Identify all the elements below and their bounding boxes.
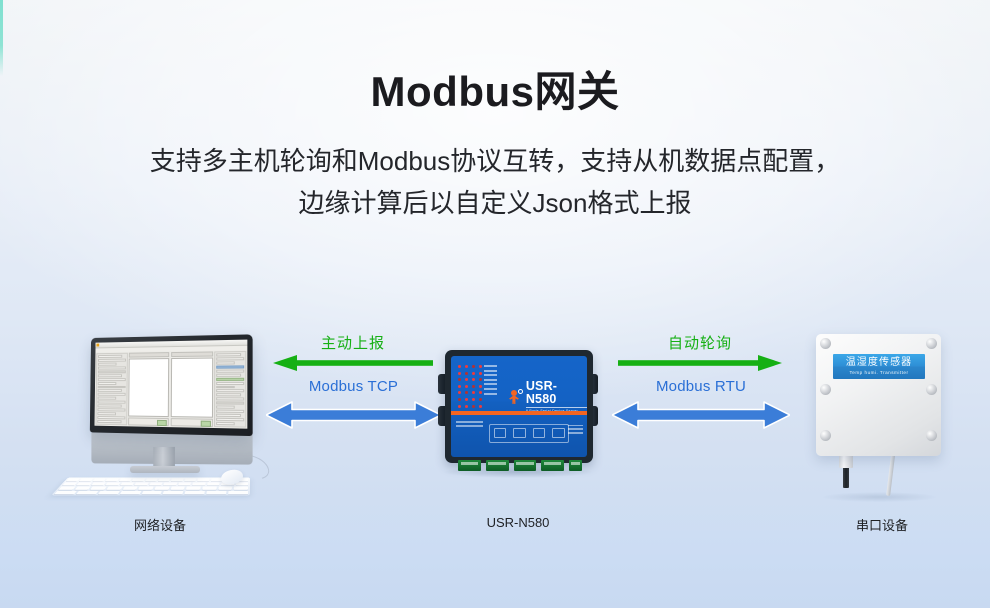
app-body <box>94 350 247 429</box>
screw-icon <box>820 338 831 349</box>
right-green-flow-label: 自动轮询 <box>618 332 782 353</box>
screw-icon <box>926 384 937 395</box>
left-blue-flow-label: Modbus TCP <box>266 378 441 395</box>
terminal-block <box>486 460 509 471</box>
caption-gateway-model: USR-N580 <box>448 515 588 530</box>
device-front-panel: USR-N580 8 Ports Serial Device Server <box>451 356 587 457</box>
monitor-screen <box>94 340 247 429</box>
sensor-enclosure: 温湿度传感器 Temp humi. Transmitter <box>816 334 941 456</box>
screw-icon <box>820 430 831 441</box>
screw-icon <box>820 384 831 395</box>
device-lower-panel <box>451 415 587 457</box>
right-green-arrow-icon <box>618 354 782 372</box>
device-led-array <box>458 365 483 409</box>
keyboard-row <box>58 487 248 490</box>
page-subtitle: 支持多主机轮询和Modbus协议互转，支持从机数据点配置， 边缘计算后以自定义J… <box>0 140 990 224</box>
caption-network-device: 网络设备 <box>90 515 230 534</box>
left-green-flow: 主动上报 <box>273 332 433 372</box>
device-led-labels <box>484 365 497 395</box>
screw-icon <box>926 338 937 349</box>
sensor-name-cn: 温湿度传感器 <box>846 357 913 369</box>
keyboard-row <box>54 491 248 494</box>
app-receive-pane <box>128 352 169 426</box>
device-model-name: USR-N580 <box>526 380 587 406</box>
left-blue-bidirectional-arrow-icon <box>266 400 441 430</box>
device-chassis: USR-N580 8 Ports Serial Device Server <box>445 350 593 463</box>
device-panel-text-right <box>568 425 583 434</box>
left-green-flow-label: 主动上报 <box>273 332 433 353</box>
device-panel-text-left <box>456 421 483 426</box>
sensor-nameplate: 温湿度传感器 Temp humi. Transmitter <box>833 354 925 379</box>
right-blue-flow-label: Modbus RTU <box>612 378 790 395</box>
screw-icon <box>926 430 937 441</box>
device-mount-ear <box>438 406 445 426</box>
keyboard-row <box>62 482 248 485</box>
keyboard <box>51 477 250 495</box>
terminal-block <box>514 460 537 471</box>
right-blue-bidirectional-arrow-icon <box>612 400 790 430</box>
page-title: Modbus网关 <box>0 58 990 119</box>
logo-divider <box>526 407 587 408</box>
terminal-block <box>458 460 481 471</box>
app-right-panel <box>214 351 246 428</box>
sensor-cable <box>843 466 849 488</box>
device-terminal-blocks <box>458 460 582 473</box>
left-green-arrow-icon <box>273 354 433 372</box>
terminal-block <box>569 460 582 471</box>
sensor-name-en: Temp humi. Transmitter <box>850 369 909 376</box>
subtitle-line-1: 支持多主机轮询和Modbus协议互转，支持从机数据点配置， <box>0 140 990 182</box>
subtitle-line-2: 边缘计算后以自定义Json格式上报 <box>0 182 990 224</box>
usr-n580-device: USR-N580 8 Ports Serial Device Server <box>432 348 604 478</box>
right-blue-flow: Modbus RTU <box>612 378 790 426</box>
right-green-flow: 自动轮询 <box>618 332 782 372</box>
caption-serial-device: 串口设备 <box>812 515 952 534</box>
network-device-computer <box>58 330 273 510</box>
device-port-pinout-diagram <box>489 424 569 443</box>
poster-canvas: Modbus网关 支持多主机轮询和Modbus协议互转，支持从机数据点配置， 边… <box>0 0 990 608</box>
monitor <box>90 334 253 436</box>
device-logo-text: USR-N580 8 Ports Serial Device Server <box>526 380 587 414</box>
app-left-panel <box>95 353 127 426</box>
app-send-textarea <box>171 358 214 418</box>
app-receive-textarea <box>128 358 169 417</box>
usr-logo-icon <box>509 389 522 405</box>
app-send-pane <box>171 351 214 427</box>
topology-diagram: 主动上报 Modbus TCP <box>0 300 990 560</box>
app-center-panes <box>128 351 214 427</box>
device-brand-logo: USR-N580 8 Ports Serial Device Server <box>509 380 587 414</box>
serial-device-sensor: 温湿度传感器 Temp humi. Transmitter <box>810 334 955 514</box>
keyboard-keys <box>54 478 248 494</box>
monitor-foot <box>130 466 200 473</box>
device-mount-ear <box>438 374 445 394</box>
terminal-block <box>541 460 564 471</box>
left-blue-flow: Modbus TCP <box>266 378 441 426</box>
sensor-shadow <box>822 492 937 502</box>
